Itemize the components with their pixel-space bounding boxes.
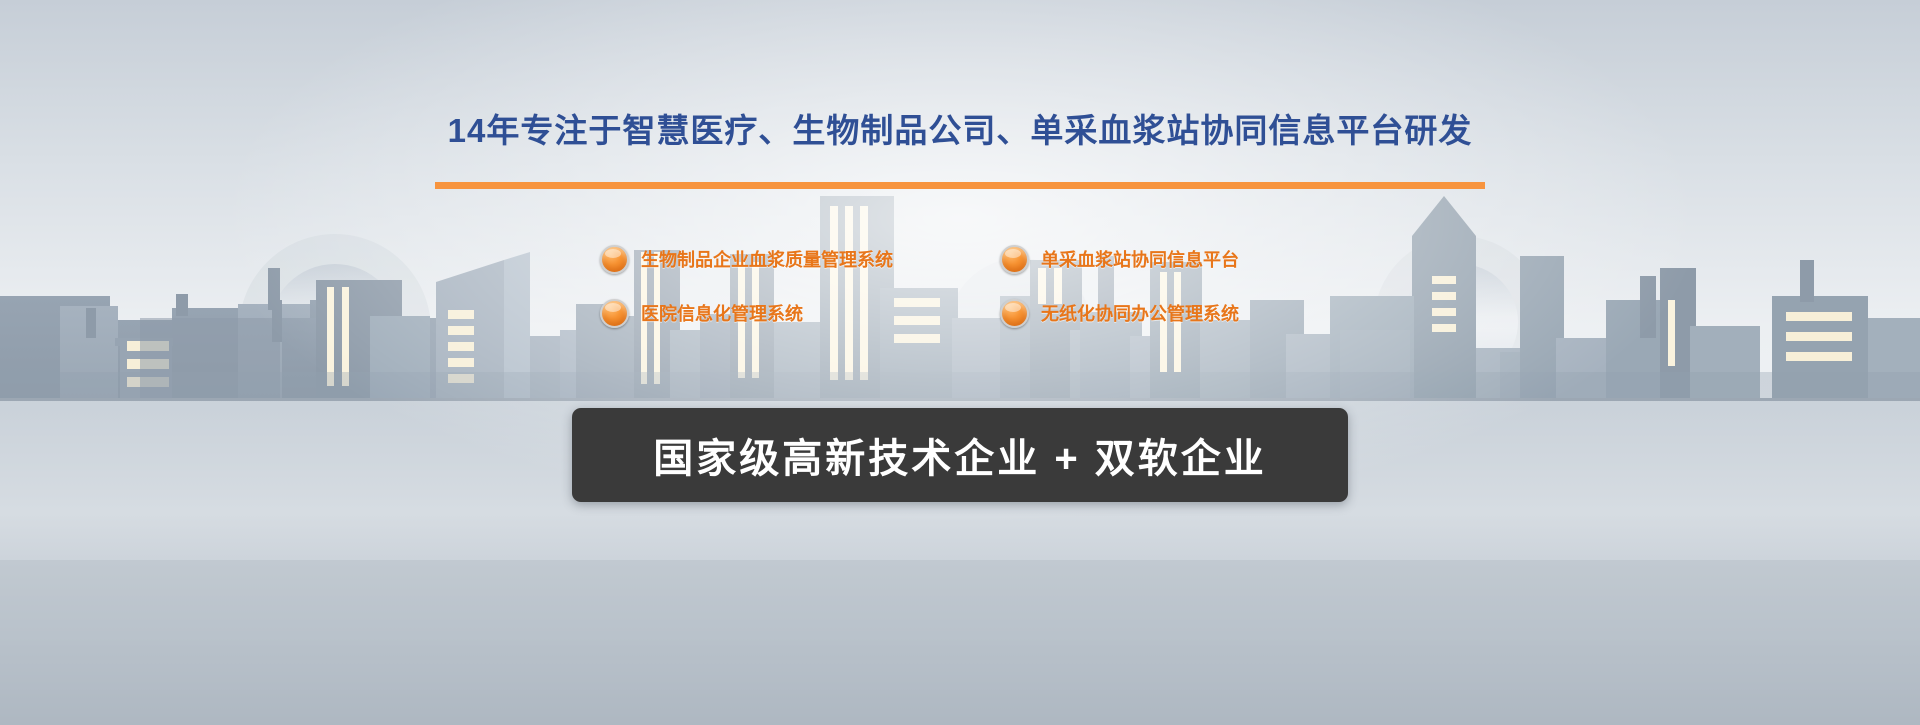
hero-banner: 14年专注于智慧医疗、生物制品公司、单采血浆站协同信息平台研发 生物制品企业血浆…: [0, 0, 1920, 725]
feature-item-label: 单采血浆站协同信息平台: [1041, 246, 1239, 272]
orange-sphere-bullet-icon: [600, 299, 629, 328]
feature-item-label: 生物制品企业血浆质量管理系统: [641, 246, 893, 272]
feature-item-hospital-information[interactable]: 医院信息化管理系统: [600, 286, 1000, 340]
feature-item-paperless-office[interactable]: 无纸化协同办公管理系统: [1000, 286, 1340, 340]
feature-item-label: 医院信息化管理系统: [641, 300, 803, 326]
orange-sphere-bullet-icon: [1000, 299, 1029, 328]
feature-item-label: 无纸化协同办公管理系统: [1041, 300, 1239, 326]
orange-sphere-bullet-icon: [1000, 245, 1029, 274]
certification-badge-label: 国家级高新技术企业 + 双软企业: [653, 426, 1267, 484]
orange-sphere-bullet-icon: [600, 245, 629, 274]
page-title: 14年专注于智慧医疗、生物制品公司、单采血浆站协同信息平台研发: [0, 104, 1920, 152]
feature-list: 生物制品企业血浆质量管理系统 单采血浆站协同信息平台 医院信息化管理系统 无纸化…: [600, 232, 1340, 340]
title-underline-rule: [435, 182, 1485, 189]
certification-badge: 国家级高新技术企业 + 双软企业: [572, 408, 1348, 502]
feature-item-plasma-station[interactable]: 单采血浆站协同信息平台: [1000, 232, 1340, 286]
feature-item-plasma-quality[interactable]: 生物制品企业血浆质量管理系统: [600, 232, 1000, 286]
